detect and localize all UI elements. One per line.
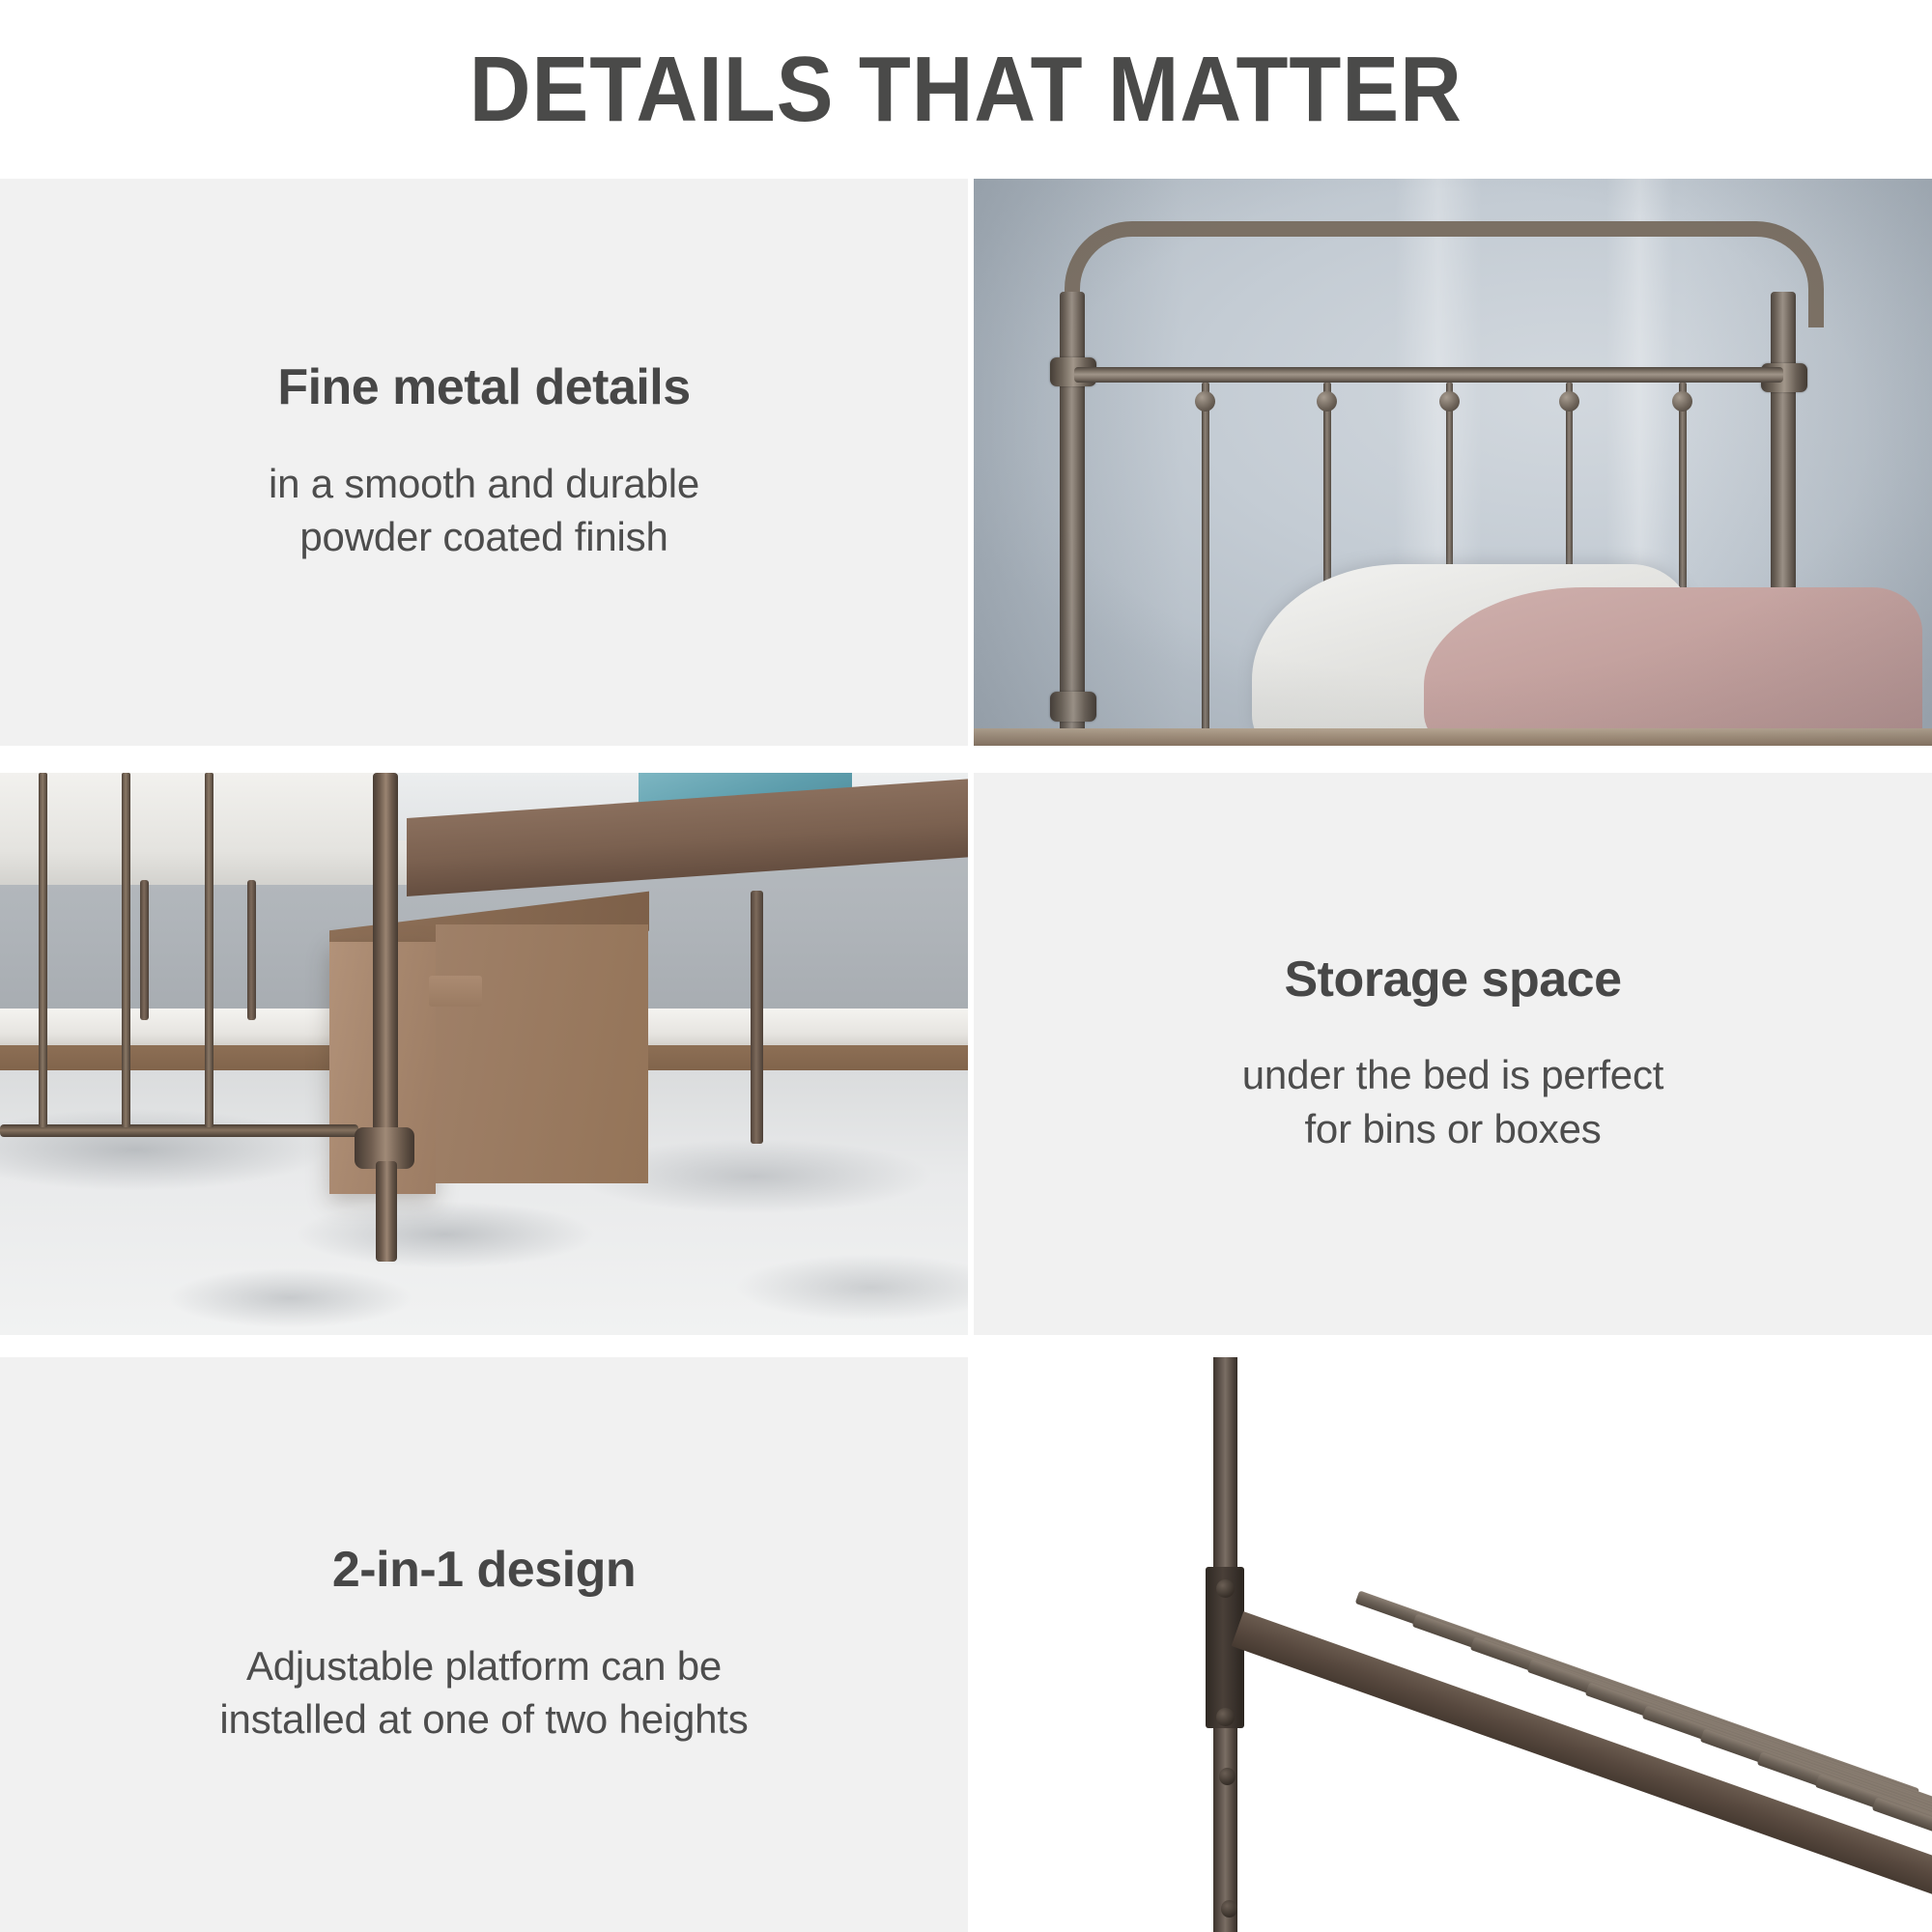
footboard-spindle-1 bbox=[39, 773, 47, 1127]
metal-headboard-photo bbox=[974, 179, 1932, 746]
feature-heading-two-in-one-design: 2-in-1 design bbox=[332, 1543, 636, 1598]
page-title: DETAILS THAT MATTER bbox=[469, 43, 1463, 136]
footboard-bottom-rail bbox=[0, 1124, 358, 1137]
bed-post-foot bbox=[376, 1161, 397, 1263]
feature-body-line-1-fine-metal-details: in a smooth and durable bbox=[269, 457, 699, 510]
feature-text-panel-storage-space: Storage space under the bed is perfect f… bbox=[974, 773, 1932, 1335]
storage-bin-handle bbox=[429, 976, 482, 1007]
feature-body-line-2-two-in-one-design: installed at one of two heights bbox=[219, 1692, 748, 1746]
headboard-scene bbox=[974, 179, 1932, 746]
feature-body-line-2-storage-space: for bins or boxes bbox=[1304, 1102, 1601, 1155]
feature-body-line-1-storage-space: under the bed is perfect bbox=[1242, 1048, 1664, 1101]
feature-row-two-in-one-design: 2-in-1 design Adjustable platform can be… bbox=[0, 1357, 1932, 1932]
infographic-page: DETAILS THAT MATTER Fine metal details i… bbox=[0, 0, 1932, 1932]
adjustable-platform-photo bbox=[974, 1357, 1932, 1932]
adjustment-bolt-1 bbox=[1216, 1579, 1235, 1598]
feature-body-line-1-two-in-one-design: Adjustable platform can be bbox=[246, 1639, 722, 1692]
storage-bin-side bbox=[436, 924, 648, 1183]
feature-row-storage-space: Storage space under the bed is perfect f… bbox=[0, 773, 1932, 1335]
adjustment-bolt-4 bbox=[1221, 1900, 1237, 1917]
photo-vignette bbox=[974, 179, 1932, 746]
bed-leg-background-1 bbox=[140, 880, 149, 1021]
footboard-spindle-2 bbox=[122, 773, 130, 1127]
footboard-spindle-3 bbox=[205, 773, 213, 1127]
feature-heading-fine-metal-details: Fine metal details bbox=[277, 360, 690, 415]
feature-text-panel-fine-metal-details: Fine metal details in a smooth and durab… bbox=[0, 179, 968, 746]
under-bed-storage-photo bbox=[0, 773, 968, 1335]
bed-corner-post bbox=[373, 773, 398, 1144]
feature-heading-storage-space: Storage space bbox=[1285, 952, 1622, 1008]
adjustment-bolt-3 bbox=[1219, 1768, 1236, 1784]
feature-text-panel-two-in-one-design: 2-in-1 design Adjustable platform can be… bbox=[0, 1357, 968, 1932]
storage-scene bbox=[0, 773, 968, 1335]
header-banner: DETAILS THAT MATTER bbox=[0, 0, 1932, 179]
feature-row-fine-metal-details: Fine metal details in a smooth and durab… bbox=[0, 179, 1932, 746]
bed-leg-far-right bbox=[751, 891, 763, 1144]
bed-leg-background-2 bbox=[247, 880, 256, 1021]
frame-detail-scene bbox=[974, 1357, 1932, 1932]
adjustment-bolt-2 bbox=[1216, 1708, 1235, 1726]
feature-body-line-2-fine-metal-details: powder coated finish bbox=[299, 510, 668, 563]
